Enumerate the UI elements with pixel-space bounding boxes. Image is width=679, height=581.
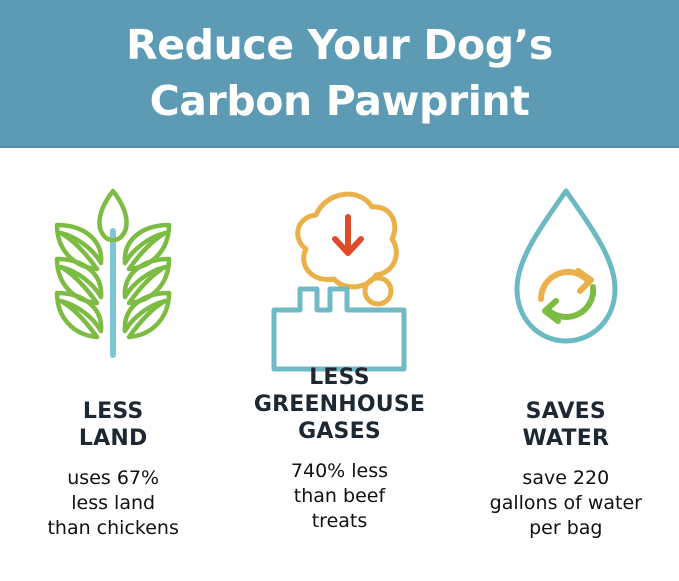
plant-leaves-icon (0, 148, 226, 398)
factory-emissions-icon (226, 148, 452, 398)
page-title-line-2: Carbon Pawprint (150, 73, 530, 129)
benefit-columns: LESS LAND uses 67% less land than chicke… (0, 148, 679, 581)
column-body-saves-water: save 220 gallons of water per bag (490, 466, 642, 541)
column-body-less-greenhouse-gases: 740% less than beef treats (291, 459, 388, 534)
column-heading-less-land: LESS LAND (79, 398, 148, 452)
column-less-land: LESS LAND uses 67% less land than chicke… (0, 148, 226, 581)
page-title-line-1: Reduce Your Dog’s (126, 17, 553, 73)
column-heading-less-greenhouse-gases: LESS GREENHOUSE GASES (254, 364, 425, 445)
column-heading-saves-water: SAVES WATER (523, 398, 610, 452)
column-saves-water: SAVES WATER save 220 gallons of water pe… (453, 148, 679, 581)
infographic-root: Reduce Your Dog’s Carbon Pawprint (0, 0, 679, 581)
header-banner: Reduce Your Dog’s Carbon Pawprint (0, 0, 679, 148)
column-less-greenhouse-gases: LESS GREENHOUSE GASES 740% less than bee… (226, 148, 452, 581)
water-drop-recycle-icon (453, 148, 679, 398)
column-body-less-land: uses 67% less land than chickens (47, 466, 178, 541)
